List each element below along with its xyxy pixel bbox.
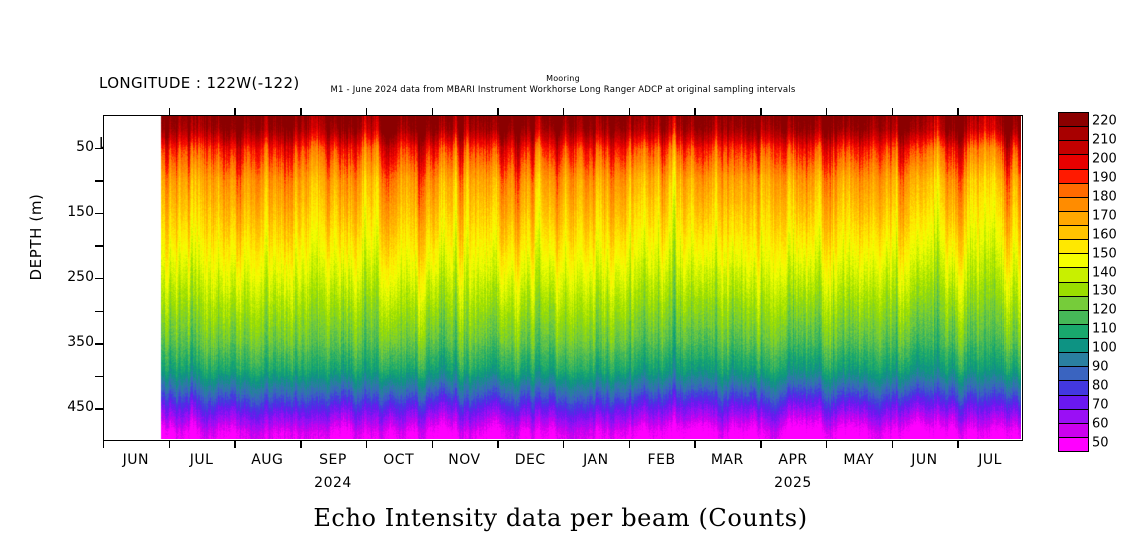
x-axis-tick-label: APR [778,452,807,468]
x-axis-tick [892,108,893,115]
x-axis-tick [760,441,761,448]
colorbar-scale [1058,112,1089,452]
colorbar-band [1059,141,1088,155]
x-axis-tick [432,108,433,115]
colorbar-tick-label: 150 [1092,246,1117,261]
colorbar-band [1059,424,1088,438]
x-axis-tick [629,441,630,448]
colorbar-tick-labels: 2202102001901801701601501401301201101009… [1092,112,1121,452]
x-axis-tick [826,441,827,448]
x-axis-tick-label: MAR [711,452,744,468]
colorbar-band [1059,325,1088,339]
colorbar-band [1059,283,1088,297]
heatmap-plot-area [103,115,1023,441]
x-axis-tick [169,441,170,448]
x-axis-tick [234,108,235,115]
y-axis-tick [95,213,103,214]
colorbar-band [1059,381,1088,395]
x-axis-tick [497,108,498,115]
colorbar-band [1059,226,1088,240]
colorbar-band [1059,297,1088,311]
colorbar-tick-label: 190 [1092,170,1117,185]
colorbar-tick-label: 80 [1092,379,1109,394]
x-axis-tick [760,108,761,115]
x-axis-tick-label: OCT [383,452,414,468]
colorbar-tick-label: 160 [1092,227,1117,242]
colorbar-band [1059,170,1088,184]
x-axis-tick-label: FEB [648,452,676,468]
colorbar-band [1059,353,1088,367]
y-axis-tick-label: 250 [67,269,94,285]
x-axis-tick-label: JUN [911,452,937,468]
chart-subtitle: M1 - June 2024 data from MBARI Instrumen… [103,85,1023,95]
x-axis-tick [957,441,958,448]
x-axis-year-label: 2025 [774,475,812,491]
colorbar-tick-label: 210 [1092,132,1117,147]
x-axis-tick [497,441,498,448]
y-axis-tick-label: 150 [67,204,94,220]
colorbar-band [1059,155,1088,169]
colorbar-band [1059,127,1088,141]
colorbar-tick-label: 220 [1092,114,1117,129]
y-axis-tick-label: 50 [76,139,94,155]
colorbar-band [1059,198,1088,212]
x-axis-month-labels: JUNJULAUGSEPOCTNOVDECJANFEBMARAPRMAYJUNJ… [103,452,1023,472]
x-axis-tick [234,441,235,448]
x-axis-tick [366,108,367,115]
x-axis-year-label: 2024 [314,475,352,491]
colorbar-tick-label: 50 [1092,436,1109,451]
x-axis-tick [300,108,301,115]
colorbar-band [1059,113,1088,127]
x-axis-tick [432,441,433,448]
x-axis-year-labels: 20242025 [103,475,1023,495]
x-axis-tick-label: JUL [978,452,1002,468]
x-axis-tick-label: NOV [448,452,480,468]
x-axis-tick [694,108,695,115]
y-axis-tick [95,408,103,409]
echo-intensity-heatmap [104,116,1021,439]
x-axis-tick-label: AUG [251,452,283,468]
colorbar-tick-label: 110 [1092,322,1117,337]
figure-caption: Echo Intensity data per beam (Counts) [0,504,1121,532]
colorbar-tick-label: 70 [1092,398,1109,413]
y-axis-tick [95,148,103,149]
x-axis-tick-label: JUL [190,452,214,468]
x-axis-tick [892,441,893,448]
y-axis-tick [95,180,103,181]
colorbar-band [1059,184,1088,198]
x-axis-tick [694,441,695,448]
x-axis-tick [826,108,827,115]
colorbar-band [1059,268,1088,282]
colorbar-tick-label: 130 [1092,284,1117,299]
colorbar-band [1059,311,1088,325]
y-axis-tick [95,343,103,344]
colorbar-tick-label: 60 [1092,417,1109,432]
x-axis-tick-label: MAY [843,452,874,468]
colorbar-band [1059,212,1088,226]
x-axis-tick [300,441,301,448]
x-axis-tick [169,108,170,115]
colorbar-tick-label: 170 [1092,208,1117,223]
colorbar-tick-label: 90 [1092,360,1109,375]
colorbar-band [1059,367,1088,381]
colorbar-band [1059,240,1088,254]
y-axis-title: DEPTH (m) [27,177,45,297]
colorbar-tick-label: 140 [1092,265,1117,280]
x-axis-tick [563,441,564,448]
colorbar-tick-label: 100 [1092,341,1117,356]
x-axis-tick [629,108,630,115]
y-axis-tick [95,278,103,279]
y-axis-tick [95,245,103,246]
colorbar-tick-label: 120 [1092,303,1117,318]
y-axis-tick-label: 450 [67,399,94,415]
colorbar-band [1059,339,1088,353]
x-axis-tick [103,441,104,448]
y-axis-tick [95,376,103,377]
colorbar-tick-label: 180 [1092,189,1117,204]
colorbar-band [1059,254,1088,268]
colorbar-band [1059,396,1088,410]
colorbar-tick-label: 200 [1092,151,1117,166]
colorbar-band [1059,438,1088,451]
colorbar-band [1059,410,1088,424]
x-axis-tick-label: DEC [515,452,546,468]
x-axis-tick [366,441,367,448]
x-axis-tick-label: JUN [123,452,149,468]
y-axis-tick-label: 350 [67,334,94,350]
y-axis-tick [95,311,103,312]
x-axis-tick [563,108,564,115]
x-axis-tick-label: SEP [319,452,347,468]
chart-title: Mooring [103,74,1023,83]
x-axis-tick-label: JAN [583,452,608,468]
x-axis-tick [957,108,958,115]
